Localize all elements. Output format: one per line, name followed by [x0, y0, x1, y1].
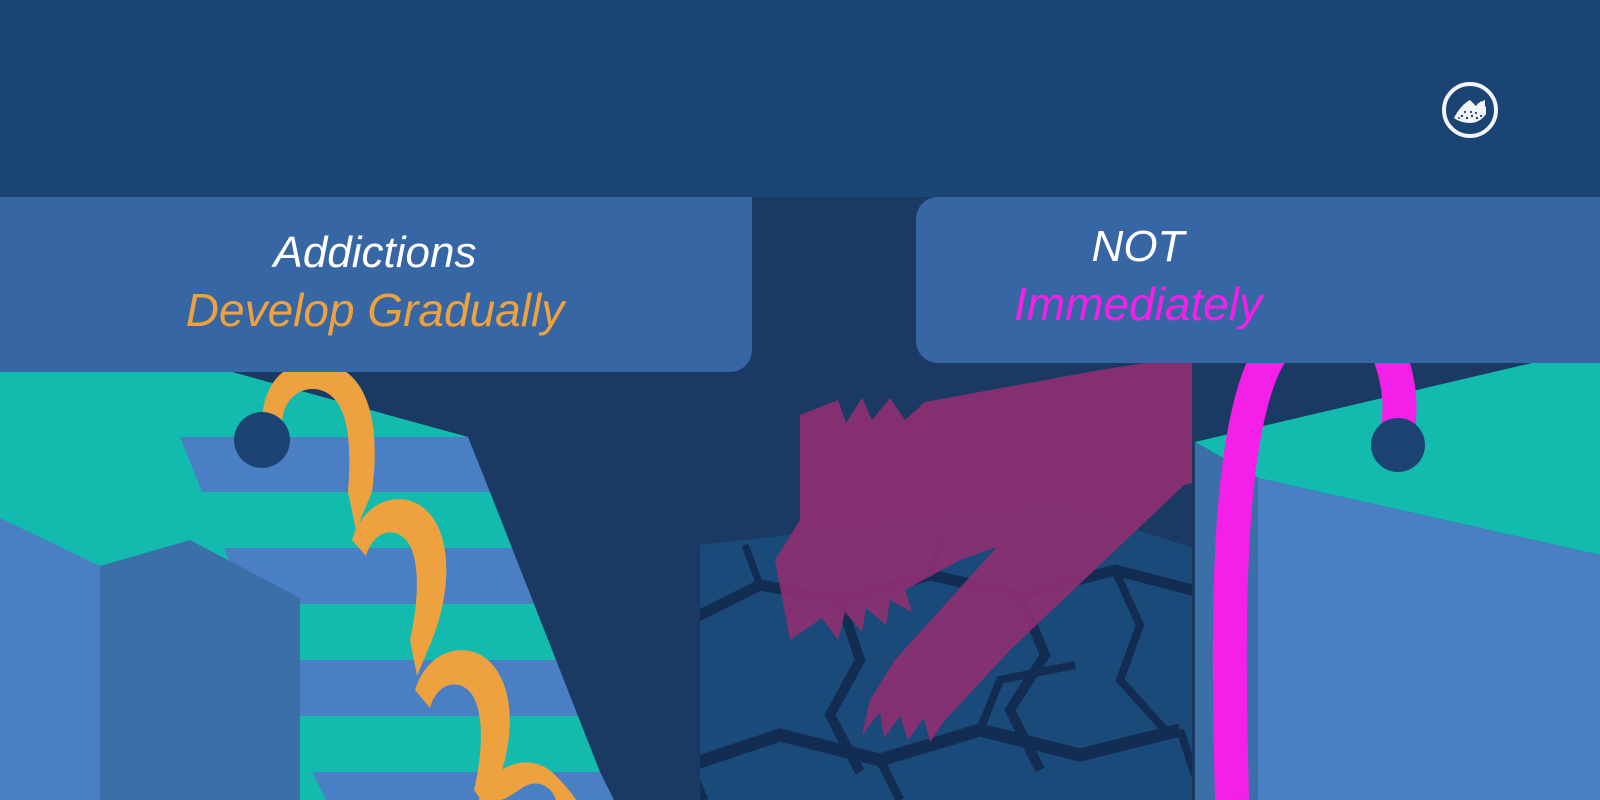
callout-panel-right: NOT Immediately: [916, 197, 1600, 363]
callout-left-line2: Develop Gradually: [0, 281, 752, 339]
header-band: [0, 0, 1600, 197]
ball-right: [1371, 418, 1425, 472]
infographic-canvas: Stages of Addiction Addictions Develop G…: [0, 0, 1600, 800]
ball-left: [234, 412, 290, 468]
mountain-circle-logo-icon[interactable]: [1440, 80, 1500, 140]
callout-right-line1: NOT: [916, 197, 1600, 275]
callout-left-line1: Addictions: [0, 197, 752, 281]
callout-right-line2: Immediately: [916, 275, 1600, 333]
callout-panel-left: Addictions Develop Gradually: [0, 197, 752, 372]
